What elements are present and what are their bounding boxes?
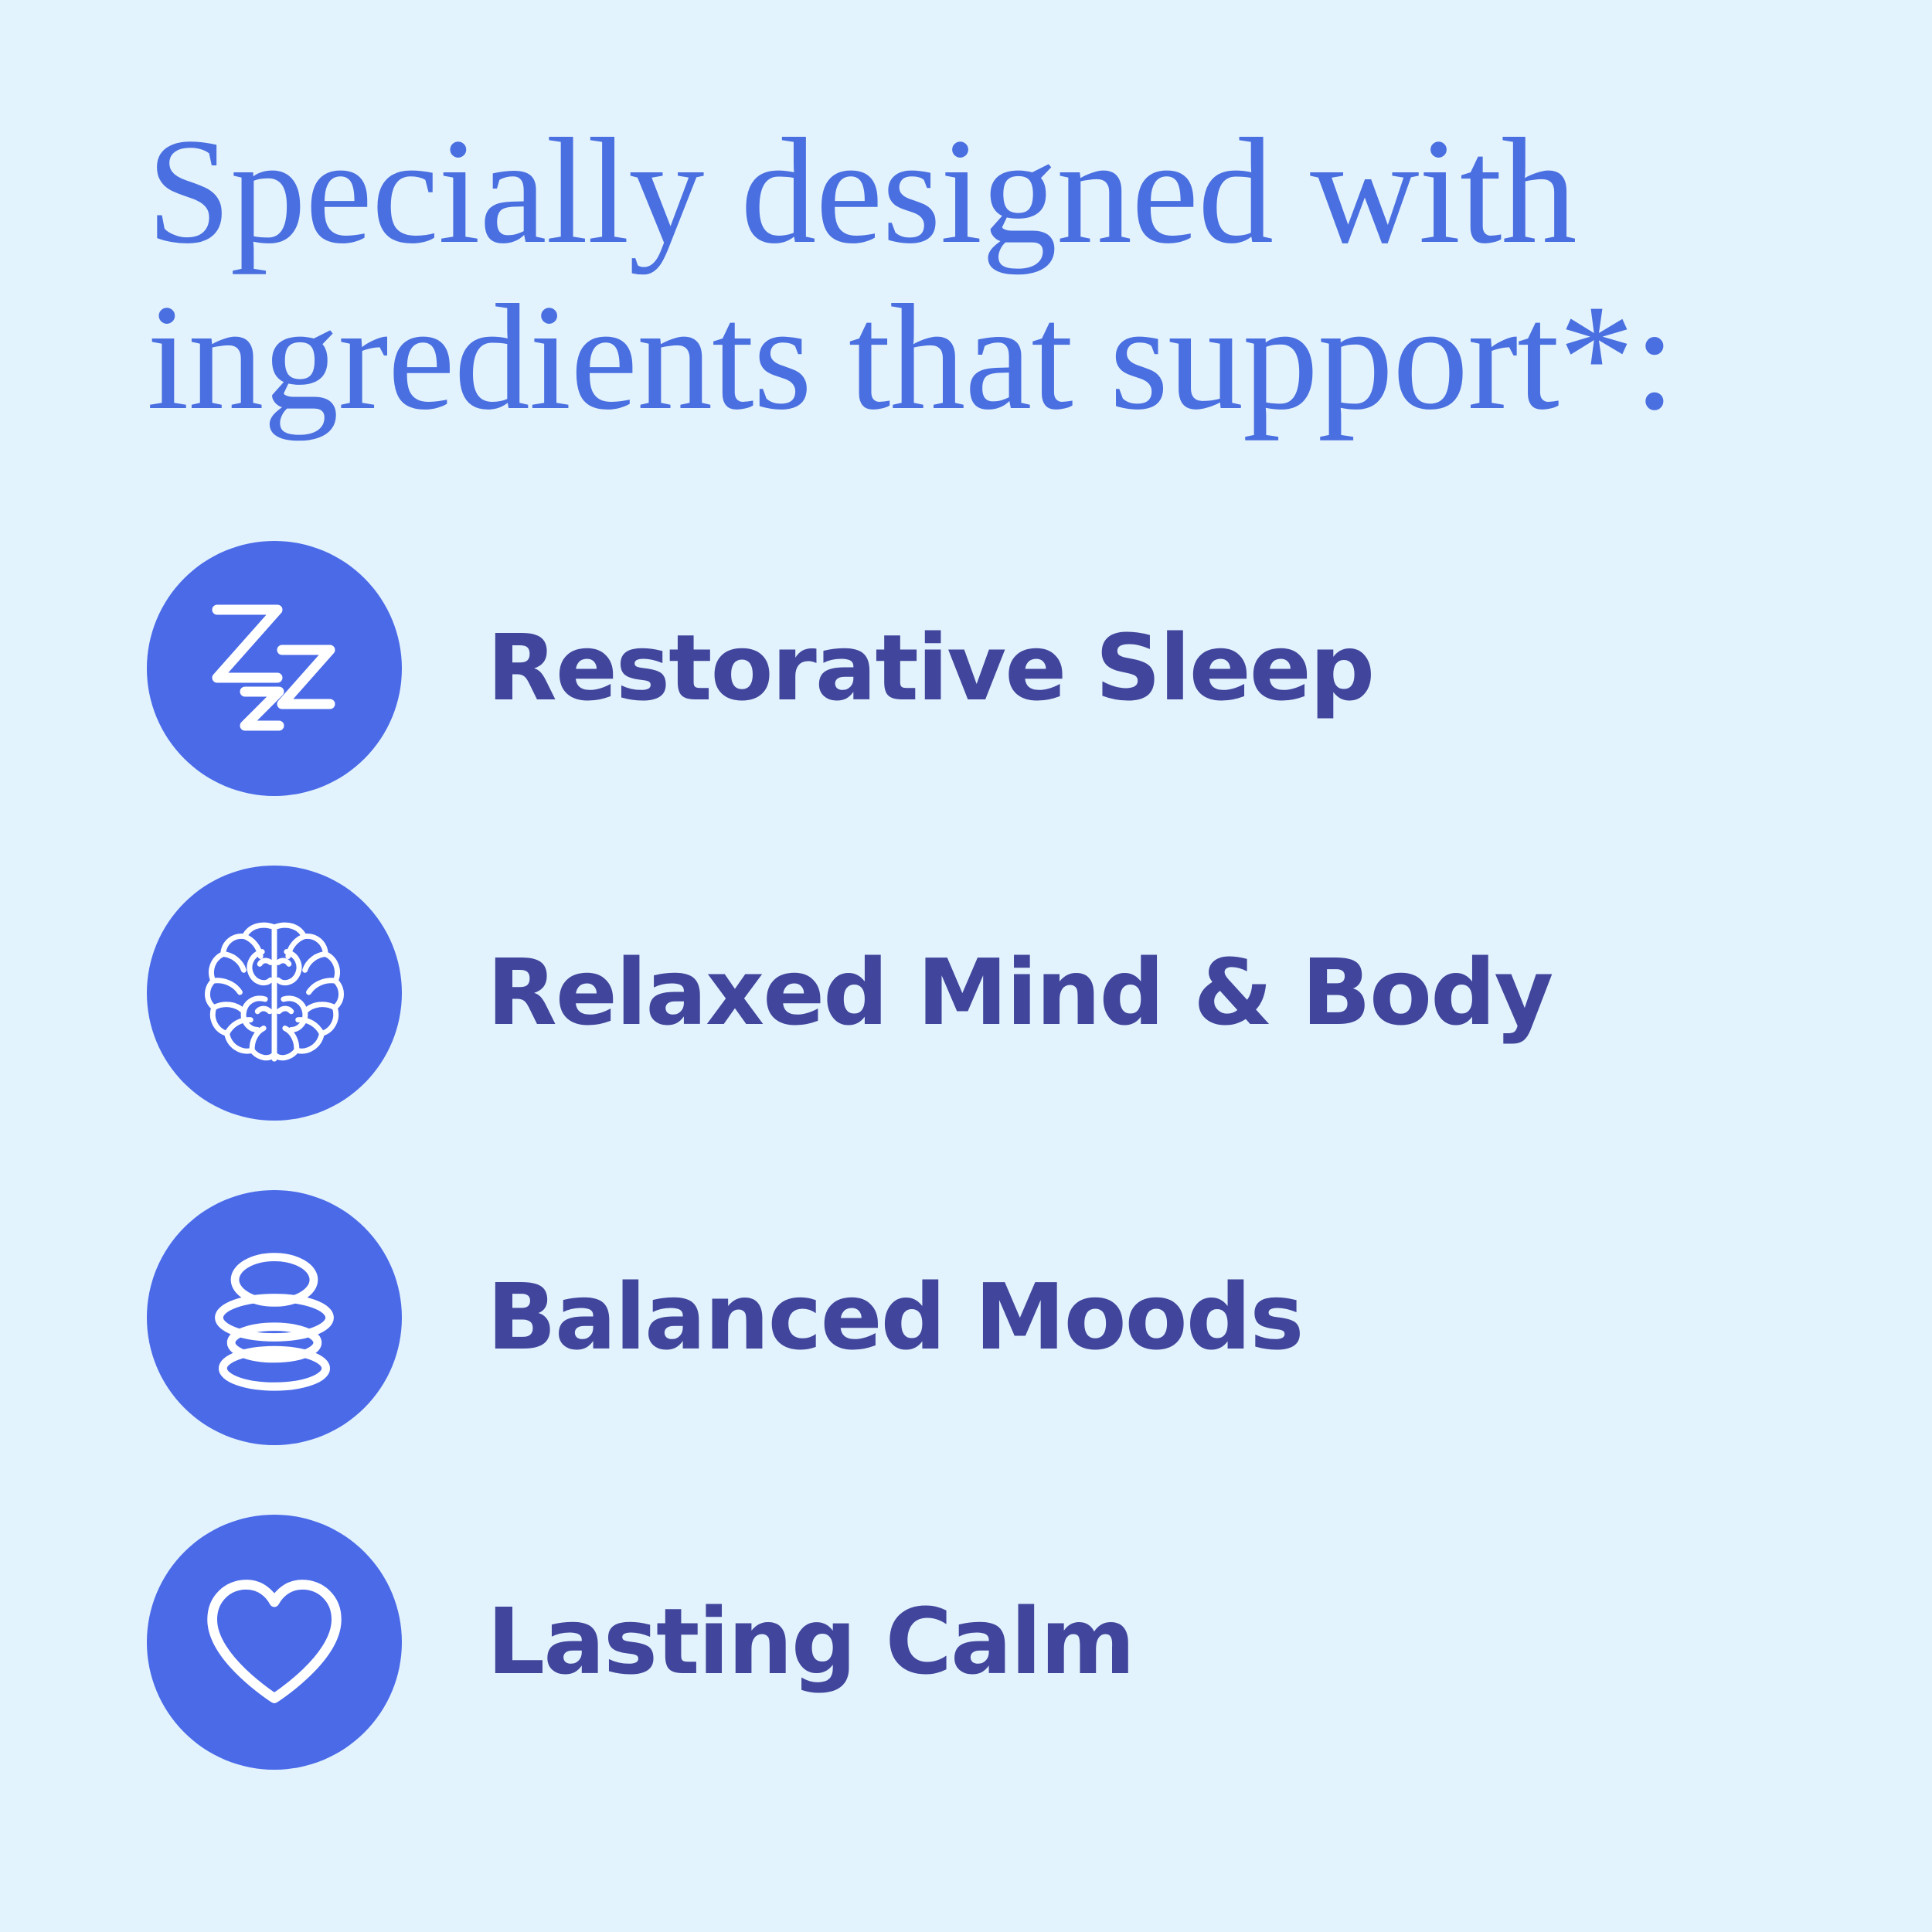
page-title-line-2: ingredients that support*: bbox=[147, 274, 1770, 440]
list-item: Restorative Sleep bbox=[147, 541, 1847, 796]
benefit-list: Restorative Sleep bbox=[147, 541, 1847, 1770]
benefit-label: Lasting Calm bbox=[487, 1594, 1134, 1690]
promo-graphic: Specially designed with ingredients that… bbox=[0, 0, 1932, 1932]
benefit-label: Relaxed Mind & Body bbox=[487, 945, 1552, 1041]
list-item: Relaxed Mind & Body bbox=[147, 866, 1847, 1121]
stacked-stones-icon bbox=[147, 1190, 402, 1445]
benefit-label: Balanced Moods bbox=[487, 1270, 1302, 1366]
benefit-label: Restorative Sleep bbox=[487, 621, 1373, 716]
brain-icon bbox=[147, 866, 402, 1121]
page-title-line-1: Specially designed with bbox=[147, 108, 1770, 274]
sleep-zzz-icon bbox=[147, 541, 402, 796]
page-title: Specially designed with ingredients that… bbox=[147, 108, 1770, 440]
list-item: Lasting Calm bbox=[147, 1515, 1847, 1770]
heart-icon bbox=[147, 1515, 402, 1770]
list-item: Balanced Moods bbox=[147, 1190, 1847, 1445]
